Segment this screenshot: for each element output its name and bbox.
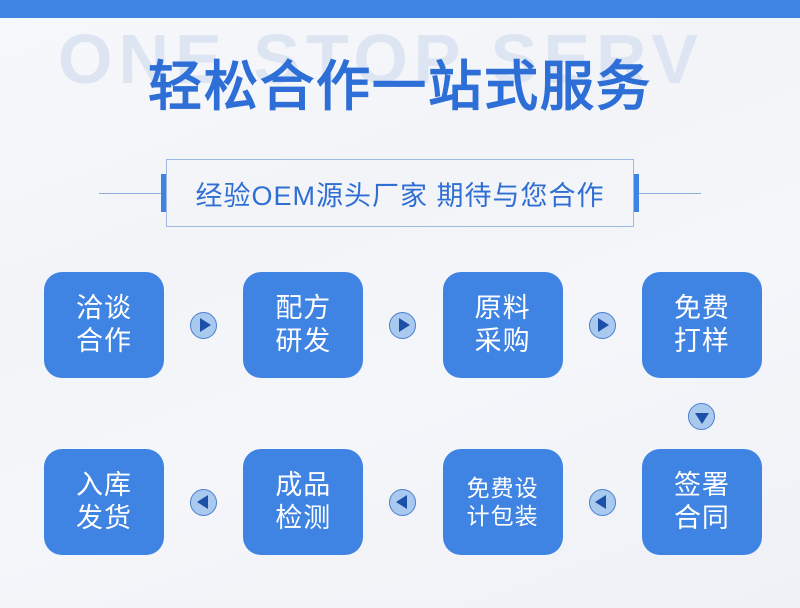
triangle-right-glyph [200,318,211,332]
flow-step-card-8[interactable]: 入库 发货 [44,449,164,555]
triangle-left-glyph [197,495,208,509]
triangle-right-glyph [399,318,410,332]
page-title: 轻松合作一站式服务 [0,58,800,117]
flow-step-6-line1: 免费设 [467,474,539,502]
triangle-left-glyph [595,495,606,509]
flow-step-4-line1: 免费 [674,292,730,325]
flow-step-card-7[interactable]: 成品 检测 [243,449,363,555]
flow-step-card-4[interactable]: 免费 打样 [642,272,762,378]
subtitle-text: 经验OEM源头厂家 期待与您合作 [195,174,604,213]
flow-step-3-line2: 采购 [475,325,531,358]
subtitle-left-rule [99,193,161,194]
flow-step-card-1[interactable]: 洽谈 合作 [44,272,164,378]
flow-row-2: 入库 发货 成品 检测 免费设 计包装 签署 合同 [44,449,762,555]
flow-step-card-5[interactable]: 签署 合同 [642,449,762,555]
top-accent-bar [0,0,800,18]
triangle-down-glyph [695,413,709,424]
flow-step-1-line2: 合作 [76,325,132,358]
flow-step-7-line2: 检测 [275,502,331,535]
subtitle-box: 经验OEM源头厂家 期待与您合作 [166,159,634,227]
flow-step-2-line1: 配方 [275,292,331,325]
flow-step-5-line1: 签署 [674,469,730,502]
subtitle-right-rule [639,193,701,194]
flow-step-3-line1: 原料 [475,292,531,325]
arrow-left-icon-3 [589,489,616,516]
flow-step-card-2[interactable]: 配方 研发 [243,272,363,378]
arrow-right-icon-3 [589,312,616,339]
arrow-left-icon-2 [389,489,416,516]
arrow-down-icon [688,403,715,430]
flow-step-4-line2: 打样 [674,325,730,358]
flow-step-2-line2: 研发 [275,325,331,358]
subtitle-band: 经验OEM源头厂家 期待与您合作 [0,155,800,231]
triangle-left-glyph [396,495,407,509]
flow-step-card-3[interactable]: 原料 采购 [443,272,563,378]
flow-step-6-line2: 计包装 [467,502,539,530]
flow-step-5-line2: 合同 [674,502,730,535]
flow-row-1: 洽谈 合作 配方 研发 原料 采购 免费 打样 [44,272,762,378]
arrow-right-icon-1 [190,312,217,339]
arrow-right-icon-2 [389,312,416,339]
arrow-left-icon-1 [190,489,217,516]
promo-banner-page: ONE STOP SERV 轻松合作一站式服务 经验OEM源头厂家 期待与您合作… [0,0,800,608]
flow-step-1-line1: 洽谈 [76,292,132,325]
flow-step-card-6[interactable]: 免费设 计包装 [443,449,563,555]
flow-step-8-line2: 发货 [76,502,132,535]
flow-step-7-line1: 成品 [275,469,331,502]
triangle-right-glyph [598,318,609,332]
flow-step-8-line1: 入库 [76,469,132,502]
